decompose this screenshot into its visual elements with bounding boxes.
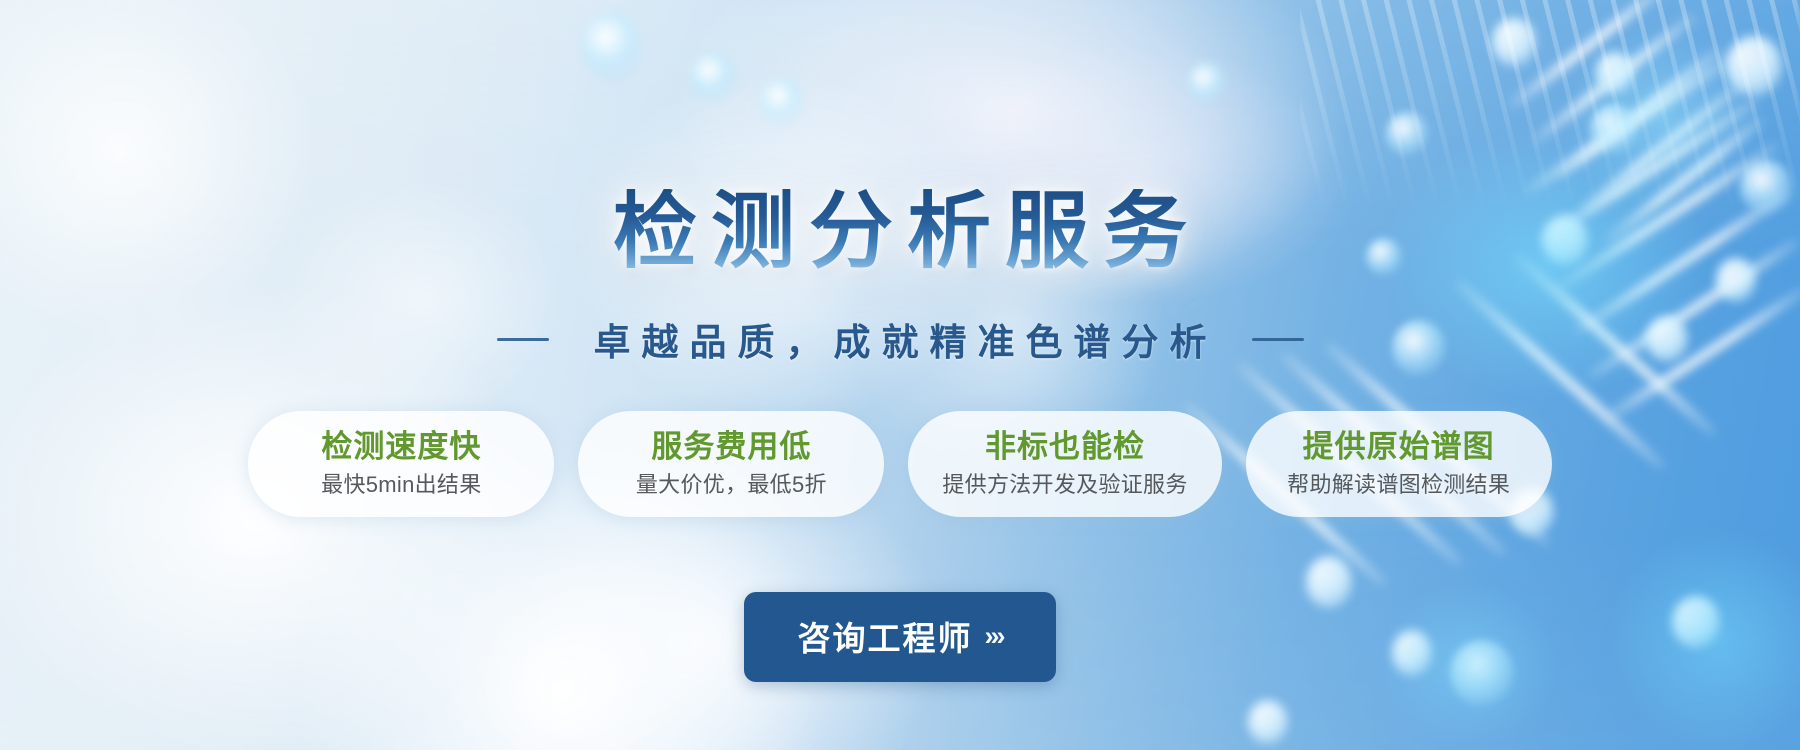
feature-pill-nonstandard[interactable]: 非标也能检 提供方法开发及验证服务 [908,411,1221,517]
subtitle-row: 卓越品质，成就精准色谱分析 [0,312,1800,366]
consult-engineer-label: 咨询工程师 [798,612,973,660]
feature-pill-subtitle: 帮助解读谱图检测结果 [1280,472,1518,498]
rule-left-icon [497,338,549,341]
chevron-right-triple-icon: ››› [985,621,1003,652]
feature-pill-title: 服务费用低 [612,429,850,465]
feature-pill-speed[interactable]: 检测速度快 最快5min出结果 [248,411,554,517]
banner-content: 检测分析服务 卓越品质，成就精准色谱分析 检测速度快 最快5min出结果 服务费… [0,0,1800,750]
consult-engineer-button[interactable]: 咨询工程师 ››› [744,592,1057,682]
feature-pill-title: 提供原始谱图 [1280,429,1518,465]
page-subtitle: 卓越品质，成就精准色谱分析 [583,312,1218,366]
page-title: 检测分析服务 [0,189,1800,273]
cta-row: 咨询工程师 ››› [0,592,1800,682]
detection-analysis-service-banner: 检测分析服务 卓越品质，成就精准色谱分析 检测速度快 最快5min出结果 服务费… [0,0,1800,750]
feature-pill-title: 检测速度快 [282,429,520,465]
feature-pill-raw-spectra[interactable]: 提供原始谱图 帮助解读谱图检测结果 [1246,411,1552,517]
feature-pill-subtitle: 最快5min出结果 [282,472,520,498]
feature-pill-list: 检测速度快 最快5min出结果 服务费用低 量大价优，最低5折 非标也能检 提供… [0,411,1800,517]
feature-pill-title: 非标也能检 [942,429,1187,465]
rule-right-icon [1252,338,1304,341]
feature-pill-price[interactable]: 服务费用低 量大价优，最低5折 [578,411,884,517]
feature-pill-subtitle: 量大价优，最低5折 [612,472,850,498]
feature-pill-subtitle: 提供方法开发及验证服务 [942,472,1187,498]
